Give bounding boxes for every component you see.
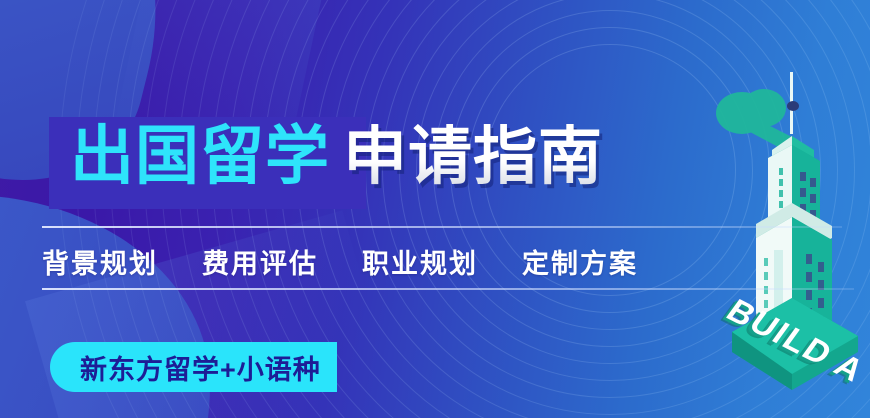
divider-top xyxy=(42,226,842,228)
headline: 出国留学 申请指南 xyxy=(49,104,603,208)
headline-plain-text: 申请指南 xyxy=(343,124,603,188)
feature-item: 背景规划 xyxy=(42,242,158,281)
brand-pill-label: 新东方留学+小语种 xyxy=(80,348,321,387)
brand-pill-button[interactable]: 新东方留学+小语种 xyxy=(50,342,337,392)
feature-item: 定制方案 xyxy=(522,242,638,281)
feature-item: 职业规划 xyxy=(362,242,478,281)
headline-highlight-text: 出国留学 xyxy=(49,124,330,188)
feature-list: 背景规划费用评估职业规划定制方案 xyxy=(42,240,742,282)
feature-item: 费用评估 xyxy=(202,242,318,281)
promo-banner: BUILD A 出国留学 申请指南 背景规划费用评估职业规划定制方案 新东方留学… xyxy=(0,0,870,418)
divider-bottom xyxy=(42,288,854,290)
